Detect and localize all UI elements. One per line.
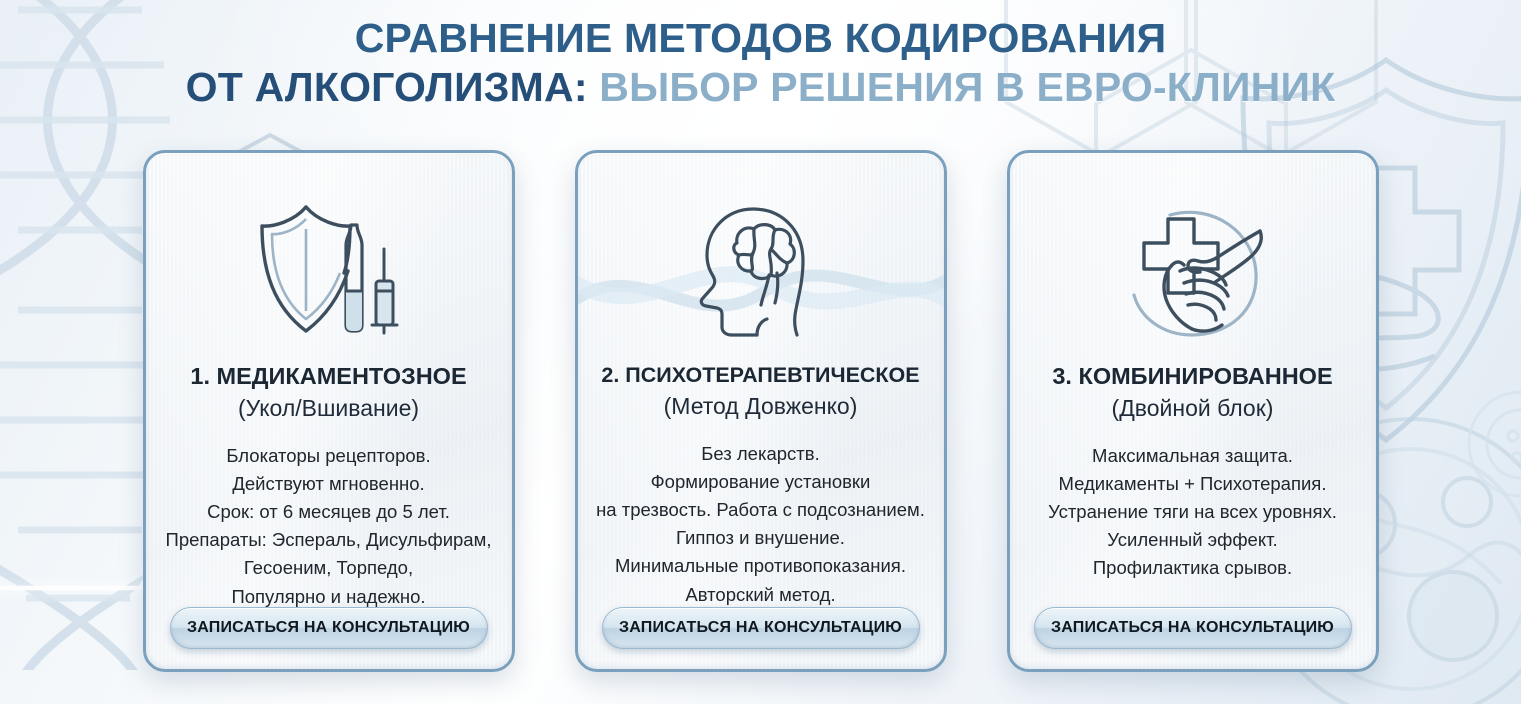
body-line: Препараты: Эспераль, Дисульфирам, [166, 526, 492, 554]
page-header: СРАВНЕНИЕ МЕТОДОВ КОДИРОВАНИЯ ОТ АЛКОГОЛ… [0, 16, 1521, 110]
card-body: Блокаторы рецепторов. Действуют мгновенн… [158, 442, 500, 611]
page-title-line-1: СРАВНЕНИЕ МЕТОДОВ КОДИРОВАНИЯ [0, 16, 1521, 60]
body-line: Формирование установки [596, 468, 925, 496]
page-title-line-2: ОТ АЛКОГОЛИЗМА: ВЫБОР РЕШЕНИЯ В ЕВРО-КЛИ… [0, 65, 1521, 109]
body-line: Профилактика срывов. [1048, 554, 1337, 582]
card-subtitle: (Метод Довженко) [664, 393, 858, 420]
body-line: Действуют мгновенно. [166, 470, 492, 498]
card-title: 2. ПСИХОТЕРАПЕВТИЧЕСКОЕ [601, 363, 919, 388]
cta-button-consultation[interactable]: ЗАПИСАТЬСЯ НА КОНСУЛЬТАЦИЮ [1034, 607, 1352, 649]
cta-button-consultation[interactable]: ЗАПИСАТЬСЯ НА КОНСУЛЬТАЦИЮ [602, 607, 920, 649]
method-card-medication[interactable]: 1. МЕДИКАМЕНТОЗНОЕ (Укол/Вшивание) Блока… [143, 150, 515, 672]
body-line: Минимальные противопоказания. [596, 552, 925, 580]
body-line: Устранение тяги на всех уровнях. [1048, 498, 1337, 526]
cta-button-consultation[interactable]: ЗАПИСАТЬСЯ НА КОНСУЛЬТАЦИЮ [170, 607, 488, 649]
card-body: Без лекарств. Формирование установки на … [588, 440, 933, 609]
method-card-psychotherapy[interactable]: 2. ПСИХОТЕРАПЕВТИЧЕСКОЕ (Метод Довженко)… [575, 150, 947, 672]
shield-ampoule-syringe-icon [254, 199, 404, 339]
body-line: Авторский метод. [596, 581, 925, 609]
page-title-dark-part: ОТ АЛКОГОЛИЗМА: [186, 64, 588, 110]
body-line: Без лекарств. [596, 440, 925, 468]
body-line: на трезвость. Работа с подсознанием. [596, 496, 925, 524]
card-subtitle: (Двойной блок) [1112, 395, 1274, 422]
page-title-accent-part: ВЫБОР РЕШЕНИЯ В ЕВРО-КЛИНИК [599, 64, 1335, 110]
method-card-combined[interactable]: 3. КОМБИНИРОВАННОЕ (Двойной блок) Максим… [1007, 150, 1379, 672]
body-line: Усиленный эффект. [1048, 526, 1337, 554]
card-body: Максимальная защита. Медикаменты + Психо… [1040, 442, 1345, 583]
body-line: Медикаменты + Психотерапия. [1048, 470, 1337, 498]
body-line: Гесоеним, Торпедо, [166, 554, 492, 582]
method-cards-row: 1. МЕДИКАМЕНТОЗНОЕ (Укол/Вшивание) Блока… [0, 150, 1521, 674]
card-subtitle: (Укол/Вшивание) [238, 395, 419, 422]
infographic-banner: СРАВНЕНИЕ МЕТОДОВ КОДИРОВАНИЯ ОТ АЛКОГОЛ… [0, 0, 1521, 704]
card-title: 1. МЕДИКАМЕНТОЗНОЕ [190, 363, 466, 390]
card-title: 3. КОМБИНИРОВАННОЕ [1052, 363, 1332, 390]
body-line: Блокаторы рецепторов. [166, 442, 492, 470]
body-line: Максимальная защита. [1048, 442, 1337, 470]
head-brain-icon [691, 199, 831, 339]
body-line: Срок: от 6 месяцев до 5 лет. [166, 498, 492, 526]
body-line: Гиппоз и внушение. [596, 524, 925, 552]
cross-helping-hands-icon [1118, 199, 1268, 339]
